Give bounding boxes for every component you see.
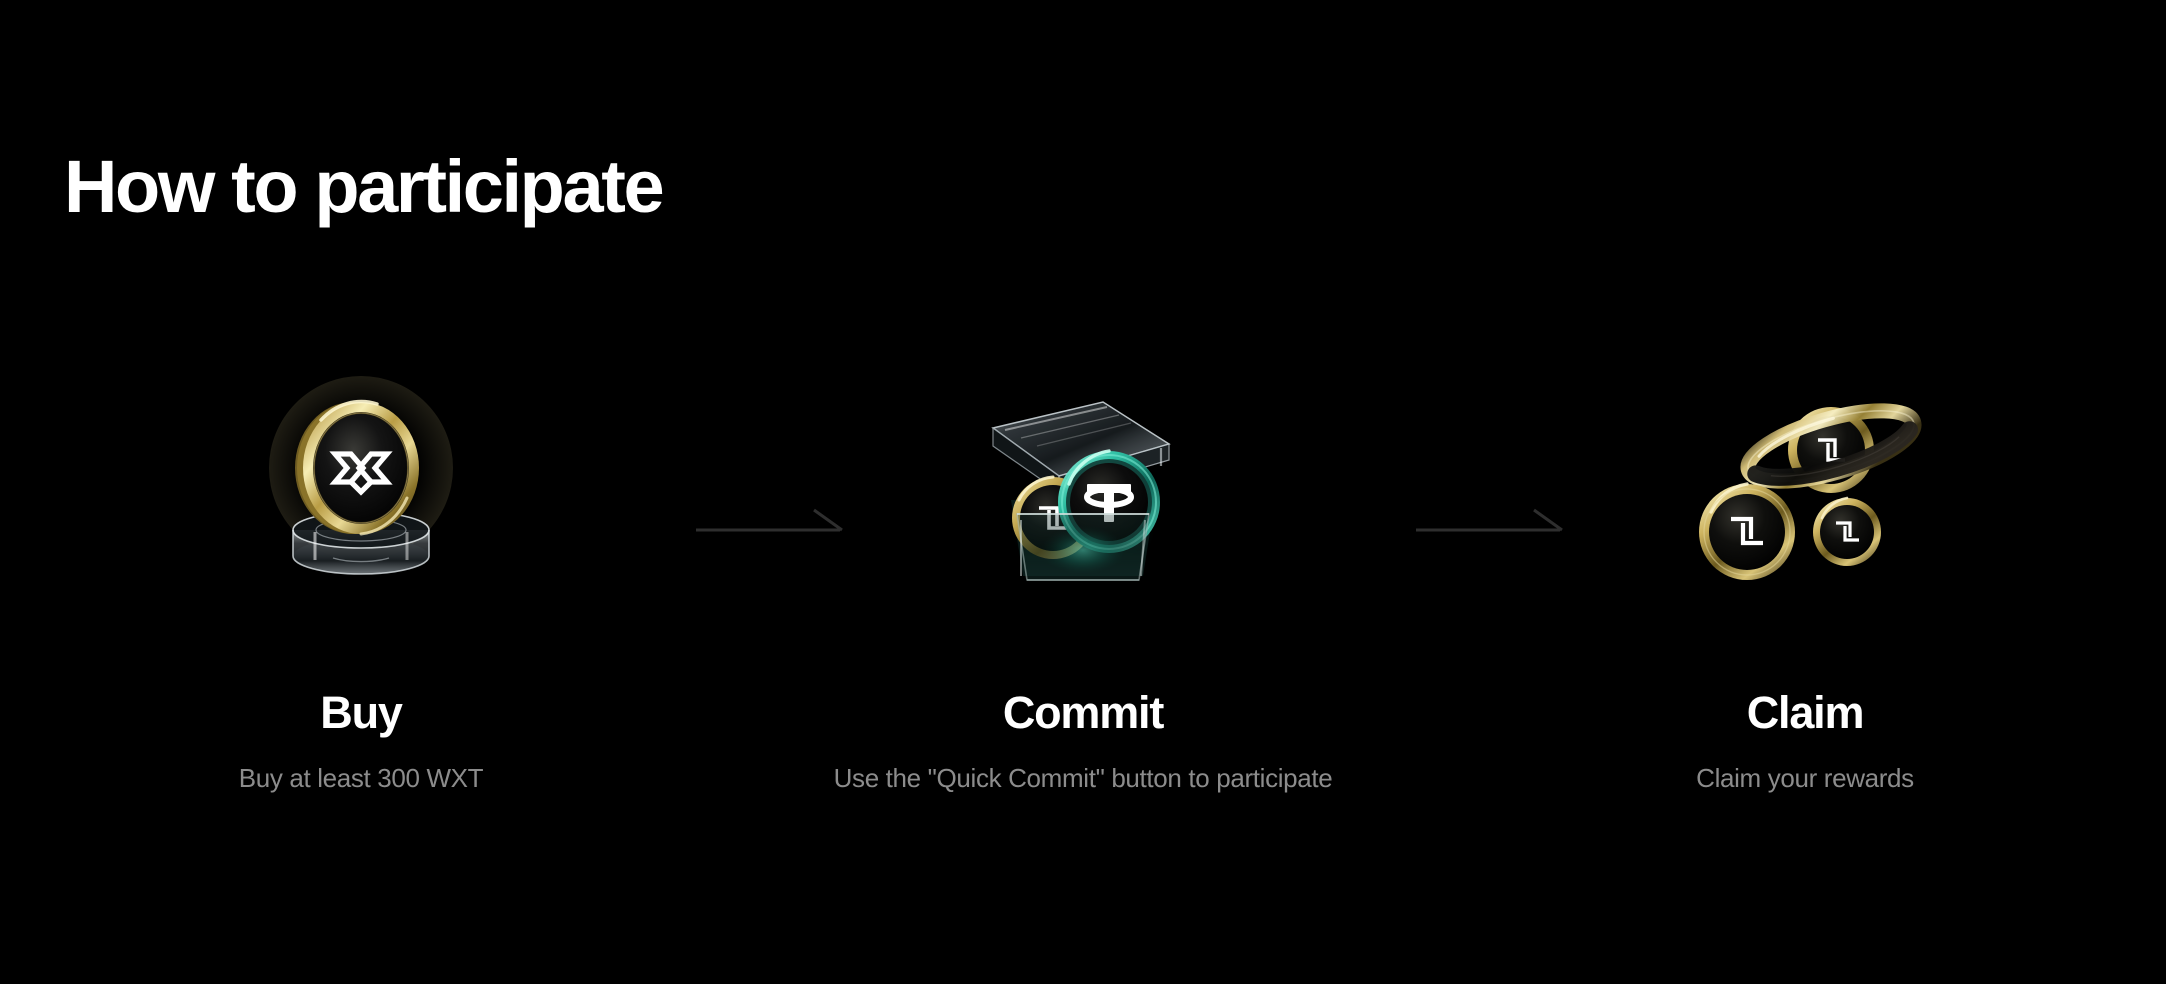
step-claim: Claim Claim your rewards [1444,380,2166,791]
step-description: Buy at least 300 WXT [239,765,483,791]
step-description: Use the "Quick Commit" button to partici… [834,765,1333,791]
steps-row: Buy Buy at least 300 WXT [0,380,2166,890]
gold-coin-small [1813,498,1881,566]
gold-coins-with-ring-icon [1655,380,1955,610]
wxt-coin [295,402,419,534]
step-description: Claim your rewards [1696,765,1914,791]
open-glass-box-with-coins-icon [933,380,1233,610]
step-commit-artwork [933,380,1233,610]
glass-box-front [1017,514,1149,580]
page-title: How to participate [64,150,662,224]
step-buy-artwork [211,380,511,610]
step-title: Claim [1747,690,1864,735]
step-claim-artwork [1655,380,1955,610]
how-to-participate-section: How to participate [0,0,2166,984]
step-buy: Buy Buy at least 300 WXT [0,380,722,791]
wxt-coin-on-pedestal-icon [211,380,511,610]
gold-coin-large [1699,484,1795,580]
ringed-coin [1741,396,1921,495]
step-title: Commit [1003,690,1163,735]
step-title: Buy [320,690,401,735]
step-commit: Commit Use the "Quick Commit" button to … [722,380,1444,791]
